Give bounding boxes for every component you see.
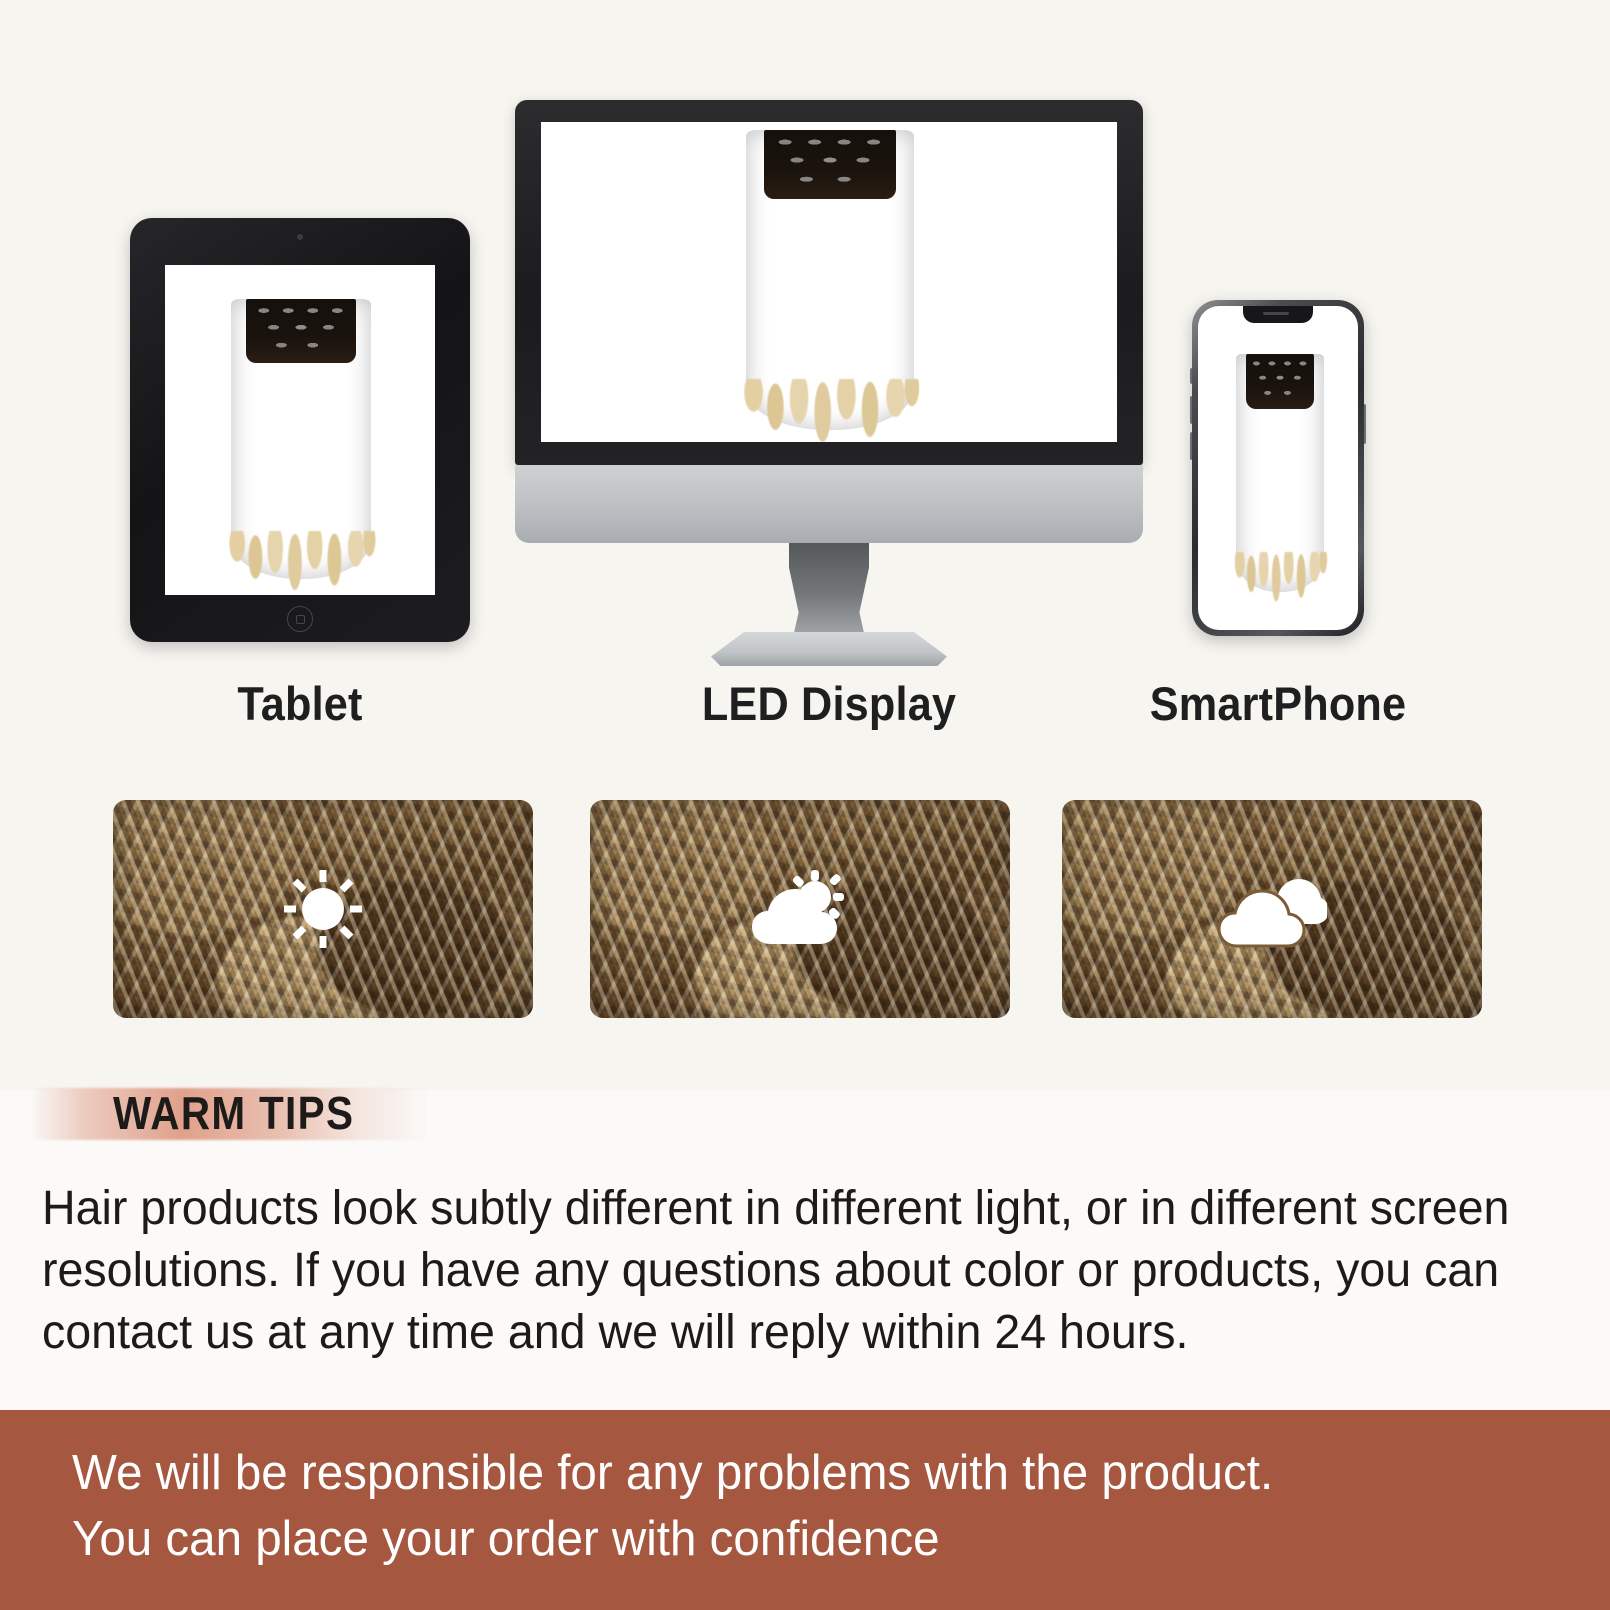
tablet-camera-icon xyxy=(297,234,303,240)
warm-tips-line-3: contact us at any time and we will reply… xyxy=(42,1302,1536,1364)
phone-power-button[interactable] xyxy=(1364,404,1366,444)
phone-volume-down-button[interactable] xyxy=(1190,432,1192,460)
hair-extension-product-image xyxy=(1236,354,1324,592)
hair-swatch-card-cloudy[interactable] xyxy=(1062,800,1482,1018)
monitor-stand-base xyxy=(711,632,947,666)
sun-behind-cloud-icon xyxy=(745,866,855,952)
warm-tips-line-1: Hair products look subtly different in d… xyxy=(42,1178,1536,1240)
hair-clip-weft xyxy=(246,299,355,363)
guarantee-text: We will be responsible for any problems … xyxy=(72,1440,1479,1572)
monitor-bezel xyxy=(515,100,1143,465)
device-label-smartphone: SmartPhone xyxy=(1123,676,1432,731)
warm-tips-title: WARM TIPS xyxy=(113,1086,354,1140)
device-preview-section: Tablet LED Display SmartPhone xyxy=(0,0,1610,1090)
hair-extension-product-image xyxy=(746,130,914,430)
guarantee-line-1: We will be responsible for any problems … xyxy=(72,1440,1479,1506)
phone-mute-button[interactable] xyxy=(1190,368,1192,384)
monitor-screen xyxy=(541,122,1117,442)
device-label-tablet: Tablet xyxy=(144,676,457,731)
warm-tips-body: Hair products look subtly different in d… xyxy=(42,1178,1536,1364)
device-label-led-display: LED Display xyxy=(540,676,1118,731)
smartphone-device[interactable] xyxy=(1192,300,1364,636)
clouds-icon xyxy=(1217,866,1327,952)
tablet-home-button[interactable] xyxy=(287,606,313,632)
guarantee-line-2: You can place your order with confidence xyxy=(72,1506,1479,1572)
hair-swatch-card-sunny[interactable] xyxy=(113,800,533,1018)
hair-extension-product-image xyxy=(231,299,371,579)
tablet-screen xyxy=(165,265,435,595)
tablet-device[interactable] xyxy=(130,218,470,642)
hair-swatch-card-partly-cloudy[interactable] xyxy=(590,800,1010,1018)
sun-icon xyxy=(268,866,378,952)
led-display-device[interactable] xyxy=(515,100,1143,660)
hair-clip-weft xyxy=(764,130,895,199)
hair-clip-weft xyxy=(1246,354,1315,409)
warm-tips-line-2: resolutions. If you have any questions a… xyxy=(42,1240,1536,1302)
monitor-chin xyxy=(515,465,1143,543)
phone-notch xyxy=(1243,306,1313,323)
phone-volume-up-button[interactable] xyxy=(1190,396,1192,424)
phone-screen xyxy=(1198,306,1358,630)
